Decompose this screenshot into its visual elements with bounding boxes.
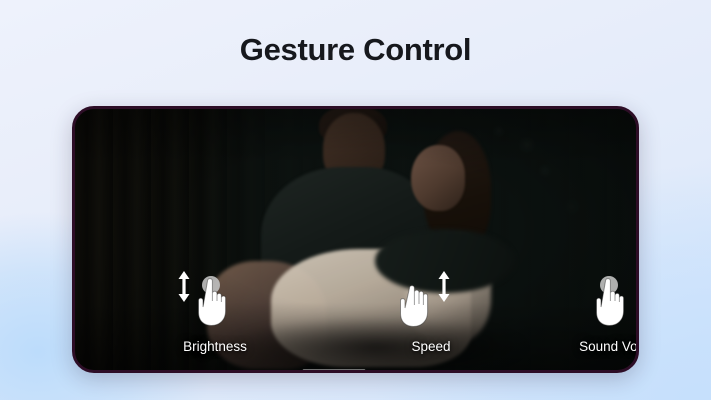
page-title: Gesture Control: [0, 30, 711, 70]
vertical-double-arrow-icon: [179, 271, 190, 302]
gesture-zoom-and-pan[interactable]: Zoom and pan: [297, 367, 417, 370]
hand-swipe-vertical-icon: [401, 286, 428, 327]
gesture-zoom-and-pan-art: [297, 367, 417, 370]
scene-vignette: [75, 109, 636, 370]
gesture-speed-art: [383, 267, 479, 337]
gesture-sound-volume-label: Sound Volume: [579, 339, 636, 354]
video-preview-card[interactable]: Brightness Speed: [72, 106, 639, 373]
video-surface[interactable]: Brightness Speed: [75, 109, 636, 370]
gesture-sound-volume[interactable]: Sound Volume: [575, 267, 636, 354]
gesture-brightness-art: [167, 267, 263, 337]
gesture-brightness-label: Brightness: [183, 339, 247, 354]
gesture-speed[interactable]: Speed: [383, 267, 479, 354]
gesture-control-page: Gesture Control: [0, 0, 711, 400]
gesture-brightness[interactable]: Brightness: [167, 267, 263, 354]
vertical-double-arrow-icon: [439, 271, 450, 302]
gesture-sound-volume-art: [575, 267, 636, 337]
gesture-speed-label: Speed: [411, 339, 450, 354]
